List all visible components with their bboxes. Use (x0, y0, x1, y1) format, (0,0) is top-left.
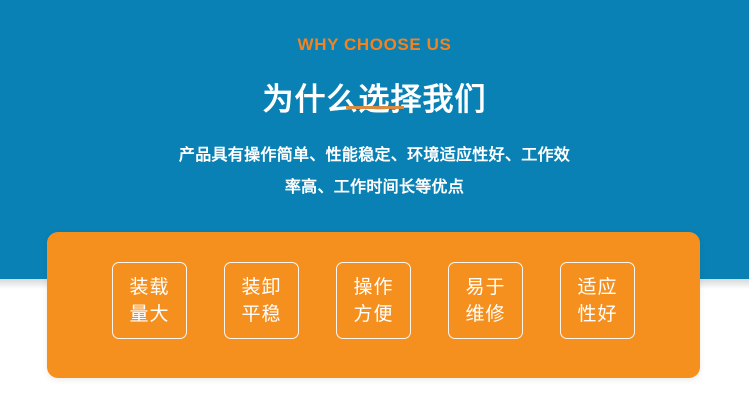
feature-card[interactable]: 易于 维修 (448, 262, 523, 339)
description-line: 率高、工作时间长等优点 (0, 172, 749, 204)
description-line: 产品具有操作简单、性能稳定、环境适应性好、工作效 (0, 140, 749, 172)
feature-card[interactable]: 操作 方便 (336, 262, 411, 339)
feature-card-line: 维修 (465, 301, 505, 328)
feature-card-line: 装卸 (241, 274, 281, 301)
section-eyebrow-label: WHY CHOOSE US (0, 34, 749, 56)
feature-card[interactable]: 适应 性好 (560, 262, 635, 339)
section-description: 产品具有操作简单、性能稳定、环境适应性好、工作效 率高、工作时间长等优点 (0, 140, 749, 204)
feature-card-line: 易于 (465, 274, 505, 301)
feature-card-line: 性好 (577, 301, 617, 328)
feature-card-line: 装载 (129, 274, 169, 301)
feature-panel: 装载 量大 装卸 平稳 操作 方便 易于 维修 适应 性好 (47, 232, 700, 378)
promo-section: WHY CHOOSE US 为什么选择我们 产品具有操作简单、性能稳定、环境适应… (0, 0, 749, 403)
feature-card-line: 适应 (577, 274, 617, 301)
feature-card[interactable]: 装载 量大 (112, 262, 187, 339)
page-title: 为什么选择我们 (0, 81, 749, 119)
feature-card-line: 操作 (353, 274, 393, 301)
feature-card-line: 量大 (129, 301, 169, 328)
title-underline-rule (346, 106, 404, 109)
feature-card-row: 装载 量大 装卸 平稳 操作 方便 易于 维修 适应 性好 (47, 262, 700, 339)
feature-card[interactable]: 装卸 平稳 (224, 262, 299, 339)
feature-card-line: 方便 (353, 301, 393, 328)
feature-card-line: 平稳 (241, 301, 281, 328)
